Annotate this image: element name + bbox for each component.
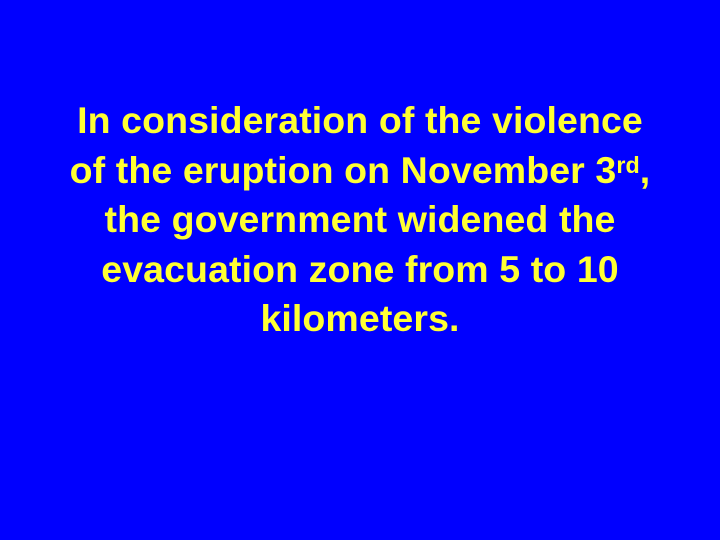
text-line-2: of the eruption on November 3rd,	[18, 146, 702, 196]
ordinal-trailing-comma: ,	[640, 149, 651, 191]
text-line-3: the government widened the	[18, 195, 702, 245]
text-line-1: In consideration of the violence	[18, 96, 702, 146]
ordinal-suffix-superscript: rd	[616, 152, 639, 178]
slide-body-text: In consideration of the violence of the …	[18, 96, 702, 344]
slide-canvas: In consideration of the violence of the …	[0, 0, 720, 540]
text-line-5: kilometers.	[18, 294, 702, 344]
text-line-4: evacuation zone from 5 to 10	[18, 245, 702, 295]
text-line-2-main: of the eruption on November 3	[70, 149, 617, 191]
